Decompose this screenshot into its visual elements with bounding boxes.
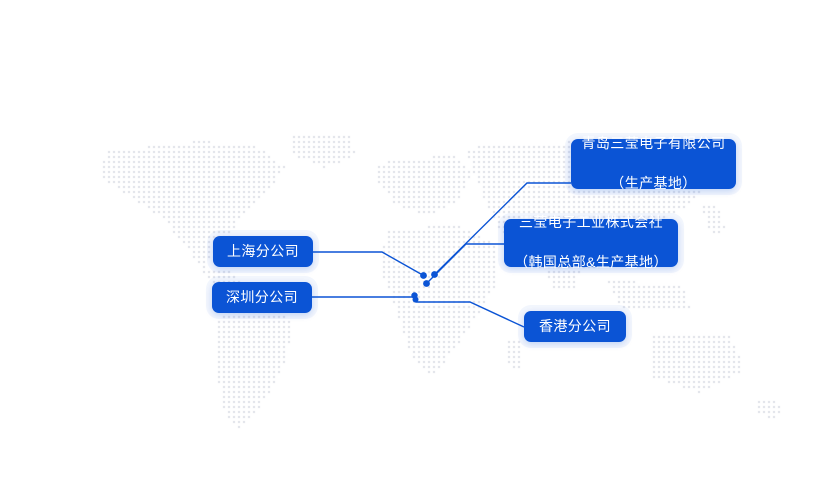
marker-korea[interactable]	[423, 280, 430, 287]
label-korea-line1: 三莹电子工业株式会社	[514, 213, 668, 233]
label-qingdao[interactable]: 青岛三莹电子有限公司 （生产基地）	[571, 139, 736, 189]
marker-qingdao[interactable]	[431, 271, 438, 278]
label-korea-line2: （韩国总部&生产基地）	[514, 253, 668, 273]
label-qingdao-line1: 青岛三莹电子有限公司	[582, 134, 726, 154]
label-shanghai[interactable]: 上海分公司	[213, 236, 313, 267]
marker-shanghai[interactable]	[420, 272, 427, 279]
connector-hongkong	[416, 302, 525, 327]
connector-korea	[427, 244, 505, 284]
label-hongkong[interactable]: 香港分公司	[524, 311, 626, 342]
label-shenzhen-line1: 深圳分公司	[226, 288, 298, 308]
world-map-stage: 青岛三莹电子有限公司 （生产基地） 三莹电子工业株式会社 （韩国总部&生产基地）…	[0, 0, 824, 480]
marker-hongkong[interactable]	[413, 297, 419, 303]
label-shanghai-line1: 上海分公司	[227, 242, 299, 262]
label-shenzhen[interactable]: 深圳分公司	[212, 282, 312, 313]
connector-lines-layer	[0, 0, 824, 480]
label-qingdao-line2: （生产基地）	[582, 174, 726, 194]
connector-shanghai	[313, 252, 424, 276]
label-hongkong-line1: 香港分公司	[539, 317, 611, 337]
label-korea[interactable]: 三莹电子工业株式会社 （韩国总部&生产基地）	[504, 219, 678, 267]
